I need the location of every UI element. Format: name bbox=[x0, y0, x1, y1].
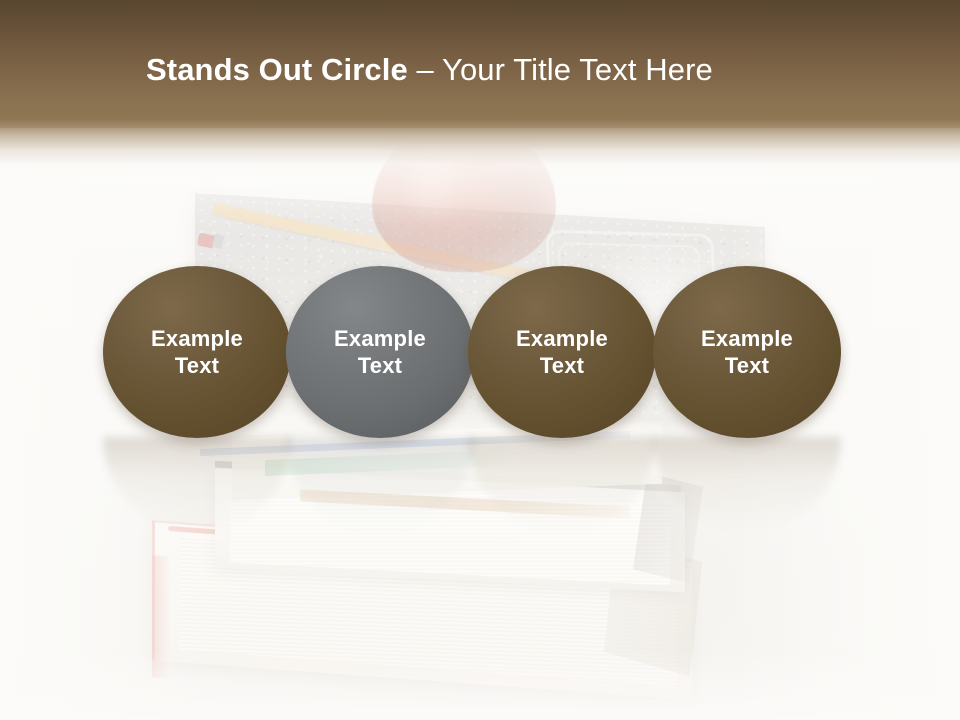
circle-item-2-label: ExampleText bbox=[324, 325, 436, 379]
circle-item-3[interactable]: ExampleText bbox=[468, 266, 656, 438]
circle-item-1-line1: Example bbox=[151, 326, 243, 351]
circle-item-3-line1: Example bbox=[516, 326, 608, 351]
circle-item-1-line2: Text bbox=[175, 353, 219, 378]
slide-canvas: Stands Out Circle – Your Title Text Here… bbox=[0, 0, 960, 720]
circle-item-1[interactable]: ExampleText bbox=[103, 266, 291, 438]
circle-item-2[interactable]: ExampleText bbox=[286, 266, 474, 438]
circle-item-3-line2: Text bbox=[540, 353, 584, 378]
circle-item-4-line2: Text bbox=[725, 353, 769, 378]
circle-item-2-line1: Example bbox=[334, 326, 426, 351]
circle-item-4[interactable]: ExampleText bbox=[653, 266, 841, 438]
circle-item-1-label: ExampleText bbox=[141, 325, 253, 379]
circle-item-4-label: ExampleText bbox=[691, 325, 803, 379]
circle-item-2-line2: Text bbox=[358, 353, 402, 378]
circle-diagram: ExampleText ExampleText ExampleText Exam… bbox=[0, 0, 960, 720]
circle-item-4-line1: Example bbox=[701, 326, 793, 351]
circle-item-3-label: ExampleText bbox=[506, 325, 618, 379]
